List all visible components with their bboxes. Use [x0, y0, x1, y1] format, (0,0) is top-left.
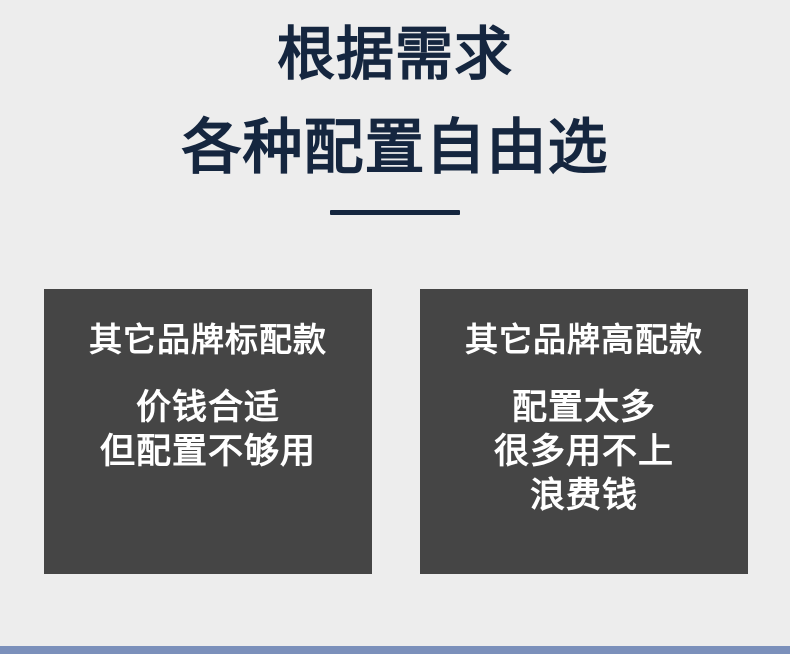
card-body: 价钱合适 但配置不够用	[100, 386, 316, 474]
card-body-line: 但配置不够用	[100, 430, 316, 474]
card-title: 其它品牌标配款	[89, 322, 327, 358]
comparison-cards: 其它品牌标配款 价钱合适 但配置不够用 其它品牌高配款 配置太多 很多用不上 浪…	[44, 289, 748, 574]
card-title: 其它品牌高配款	[465, 322, 703, 358]
card-body: 配置太多 很多用不上 浪费钱	[494, 386, 674, 518]
card-body-line: 很多用不上	[494, 430, 674, 474]
card-body-line: 浪费钱	[494, 474, 674, 518]
card-standard-config: 其它品牌标配款 价钱合适 但配置不够用	[44, 289, 372, 574]
promo-page: 根据需求 各种配置自由选 其它品牌标配款 价钱合适 但配置不够用 其它品牌高配款…	[0, 0, 790, 654]
heading-line-2: 各种配置自由选	[0, 118, 790, 178]
page-heading: 根据需求 各种配置自由选	[0, 0, 790, 215]
heading-line-1: 根据需求	[0, 26, 790, 84]
card-body-line: 价钱合适	[100, 386, 316, 430]
card-high-config: 其它品牌高配款 配置太多 很多用不上 浪费钱	[420, 289, 748, 574]
card-body-line: 配置太多	[494, 386, 674, 430]
bottom-accent-strip	[0, 646, 790, 654]
heading-divider	[330, 210, 460, 215]
